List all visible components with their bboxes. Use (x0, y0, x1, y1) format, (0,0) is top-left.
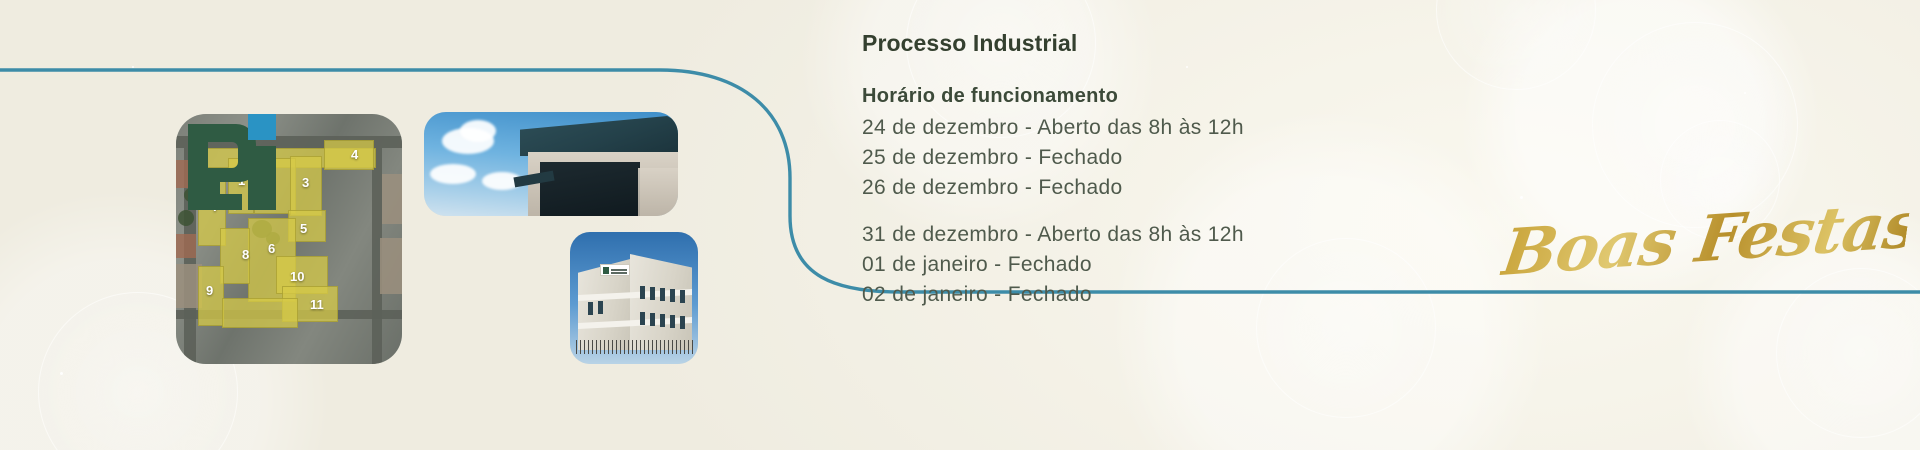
map-marker[interactable]: 6 (268, 242, 275, 255)
map-building (380, 238, 402, 294)
schedule-line: 24 de dezembro - Aberto das 8h às 12h (862, 113, 1562, 143)
facade-glass (540, 162, 640, 216)
light-speck (60, 372, 63, 375)
hq-window (588, 302, 593, 315)
map-marker[interactable]: 4 (351, 148, 358, 161)
map-parcel (324, 140, 374, 170)
hq-window (670, 289, 675, 302)
hq-window (650, 313, 655, 326)
page-title: Processo Industrial (862, 30, 1562, 57)
headquarters-photo[interactable] (570, 232, 698, 364)
facade-sidewall (638, 168, 678, 216)
cloud (430, 164, 476, 184)
hq-wall-logo-mark (603, 267, 609, 274)
map-marker[interactable]: 10 (290, 270, 304, 283)
hq-window (640, 312, 645, 325)
pi-logo-icon (186, 112, 278, 212)
map-marker[interactable]: 9 (206, 284, 213, 297)
cloud (460, 120, 496, 142)
info-panel: Processo Industrial Horário de funcionam… (862, 30, 1562, 327)
schedule-line: 25 de dezembro - Fechado (862, 143, 1562, 173)
hq-window (598, 301, 603, 314)
processo-industrial-logo[interactable] (176, 104, 288, 222)
hq-window (670, 315, 675, 328)
hq-wall-logo (600, 264, 630, 276)
hq-window (640, 286, 645, 299)
bokeh-circle (1592, 22, 1798, 228)
map-building (382, 174, 402, 224)
schedule-line: 02 de janeiro - Fechado (862, 280, 1562, 310)
schedule-group-new-year: 31 de dezembro - Aberto das 8h às 12h 01… (862, 220, 1562, 310)
map-marker[interactable]: 5 (300, 222, 307, 235)
schedule-line: 31 de dezembro - Aberto das 8h às 12h (862, 220, 1562, 250)
media-cluster: 1 2 3 4 5 6 7 8 9 10 11 (176, 104, 706, 374)
schedule-heading: Horário de funcionamento (862, 85, 1562, 108)
light-speck (132, 66, 134, 68)
schedule-line: 01 de janeiro - Fechado (862, 250, 1562, 280)
promo-banner: 1 2 3 4 5 6 7 8 9 10 11 (0, 0, 1920, 450)
map-parcel (222, 298, 298, 328)
map-building (176, 234, 196, 258)
hq-wall-logo-text (611, 269, 627, 271)
hq-fence (576, 340, 694, 354)
hq-window (660, 314, 665, 327)
greeting-block: Boas Festas! (1498, 222, 1898, 318)
schedule-line: 26 de dezembro - Fechado (862, 173, 1562, 203)
map-marker[interactable]: 11 (310, 298, 324, 311)
hq-window (660, 288, 665, 301)
map-tree (178, 210, 194, 226)
schedule-group-december: 24 de dezembro - Aberto das 8h às 12h 25… (862, 113, 1562, 203)
map-marker[interactable]: 8 (242, 248, 249, 261)
light-speck (1744, 92, 1746, 94)
hq-window (680, 316, 685, 329)
hq-window (650, 287, 655, 300)
company-facade-photo[interactable] (424, 112, 678, 216)
hq-window (680, 290, 685, 303)
map-marker[interactable]: 3 (302, 176, 309, 189)
